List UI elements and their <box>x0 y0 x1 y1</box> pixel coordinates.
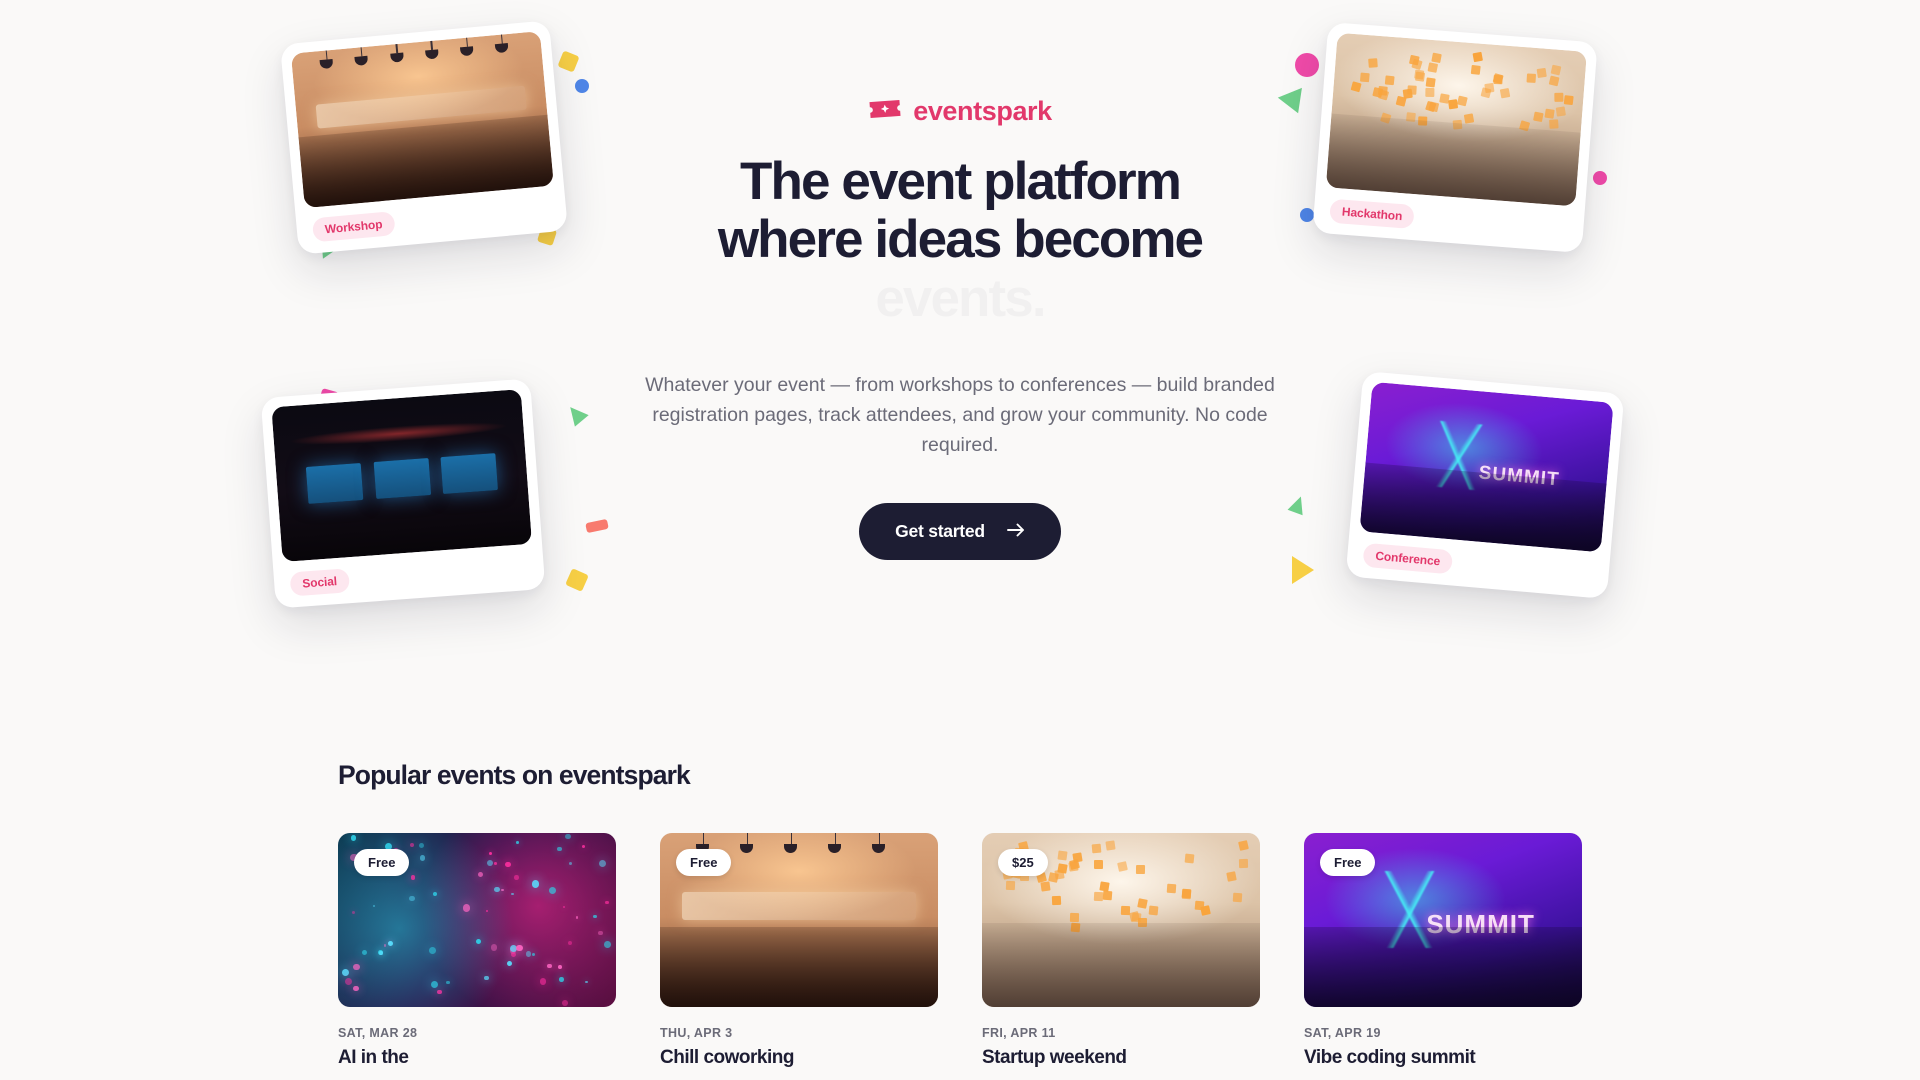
event-thumbnail: Free <box>338 833 616 1007</box>
decor-triangle-green-2 <box>1278 88 1310 118</box>
headline-line-2: where ideas become <box>640 211 1280 269</box>
hero-section: Workshop Hackathon Social SUMMIT <box>0 0 1920 700</box>
floating-card-chip: Hackathon <box>1329 199 1415 229</box>
decor-rect-coral <box>585 519 609 533</box>
event-title: AI in the <box>338 1047 616 1069</box>
decor-dot-pink-2 <box>1593 171 1607 185</box>
event-card[interactable]: Free SUMMIT SAT, APR 19 Vibe coding summ… <box>1304 833 1582 1069</box>
get-started-button[interactable]: Get started <box>859 503 1061 560</box>
event-date: FRI, APR 11 <box>982 1026 1260 1040</box>
event-title: Startup weekend <box>982 1047 1260 1069</box>
event-title: Vibe coding summit <box>1304 1047 1582 1069</box>
event-date: SAT, MAR 28 <box>338 1026 616 1040</box>
headline-line-1: The event platform <box>640 153 1280 211</box>
floating-card-chip: Conference <box>1362 543 1453 575</box>
floating-card-image-hackathon <box>1326 33 1587 207</box>
decor-triangle-yellow <box>1292 556 1314 584</box>
ticket-icon <box>868 97 902 126</box>
decor-dot-blue <box>575 79 589 93</box>
event-grid: Free SAT, MAR 28 AI in the Free THU, APR… <box>338 833 1582 1069</box>
popular-events-section: Popular events on eventspark Free SAT, M… <box>0 760 1920 1069</box>
floating-card-image-conference: SUMMIT <box>1359 382 1613 553</box>
page-title: The event platform where ideas become ev… <box>640 153 1280 328</box>
decor-square-yellow-3 <box>565 568 589 592</box>
event-thumbnail: $25 <box>982 833 1260 1007</box>
decor-triangle-green-4 <box>1288 494 1309 515</box>
event-thumbnail: Free SUMMIT <box>1304 833 1582 1007</box>
floating-card-image-social <box>271 389 532 562</box>
hero-subtitle: Whatever your event — from workshops to … <box>640 370 1280 461</box>
price-badge: Free <box>1320 849 1375 876</box>
decor-triangle-green-3 <box>563 401 588 426</box>
floating-card-image-workshop <box>291 31 554 208</box>
floating-card-social[interactable]: Social <box>261 378 546 608</box>
event-card[interactable]: Free THU, APR 3 Chill coworking <box>660 833 938 1069</box>
brand-logo[interactable]: eventspark <box>640 96 1280 127</box>
event-card[interactable]: $25 FRI, APR 11 Startup weekend <box>982 833 1260 1069</box>
brand-name: eventspark <box>913 96 1052 127</box>
floating-card-hackathon[interactable]: Hackathon <box>1312 22 1597 253</box>
price-badge: Free <box>676 849 731 876</box>
decor-dot-pink <box>1295 53 1319 77</box>
headline-line-3: events. <box>640 270 1280 328</box>
decor-dot-blue-2 <box>1300 208 1314 222</box>
price-badge: $25 <box>998 849 1048 876</box>
event-title: Chill coworking <box>660 1047 938 1069</box>
floating-card-conference[interactable]: SUMMIT Conference <box>1346 371 1625 599</box>
get-started-label: Get started <box>895 521 985 542</box>
event-date: THU, APR 3 <box>660 1026 938 1040</box>
event-card[interactable]: Free SAT, MAR 28 AI in the <box>338 833 616 1069</box>
decor-square-yellow <box>557 50 579 72</box>
section-title: Popular events on eventspark <box>338 760 1582 791</box>
price-badge: Free <box>354 849 409 876</box>
floating-card-chip: Social <box>289 568 349 596</box>
floating-card-chip: Workshop <box>312 211 395 242</box>
floating-card-workshop[interactable]: Workshop <box>280 20 568 255</box>
event-date: SAT, APR 19 <box>1304 1026 1582 1040</box>
event-thumbnail: Free <box>660 833 938 1007</box>
arrow-right-icon <box>1007 521 1025 542</box>
hero-content: eventspark The event platform where idea… <box>640 96 1280 560</box>
